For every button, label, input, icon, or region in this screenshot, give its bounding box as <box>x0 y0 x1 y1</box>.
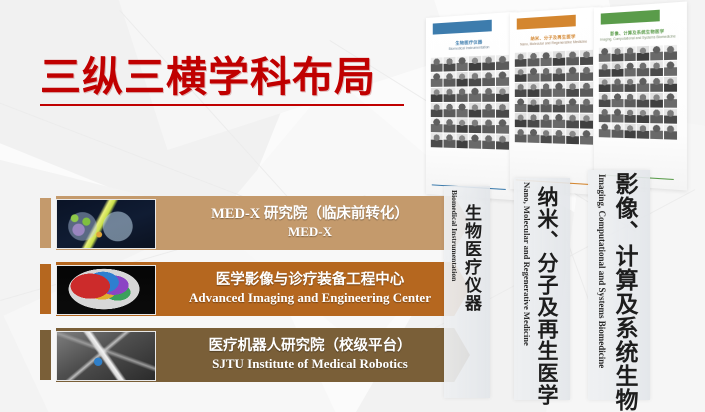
portrait-photo <box>496 55 509 70</box>
portrait-photo <box>540 67 552 82</box>
portrait-photo <box>651 61 664 76</box>
portrait-photo <box>567 129 580 144</box>
portrait-photo <box>469 134 481 149</box>
portrait-photo <box>431 88 443 102</box>
portrait-photo <box>540 113 552 128</box>
portrait-photo <box>580 66 593 81</box>
track-thumbnail-cells-image <box>56 199 156 249</box>
track-label-cn: 医学影像与诊疗装备工程中心 <box>216 271 405 291</box>
portrait-photo <box>611 93 623 107</box>
portrait-photo <box>540 51 552 66</box>
track-label-en: MED-X <box>288 224 332 241</box>
banner-title-en: Nano, Molecular and Regenerative Medicin… <box>514 40 594 48</box>
portrait-photo <box>567 113 580 128</box>
track-label-en: Advanced Imaging and Engineering Center <box>189 290 431 307</box>
portrait-photo <box>637 124 649 139</box>
portrait-photo <box>483 103 496 118</box>
portrait-photo <box>443 57 455 72</box>
track-arrow-bar: 医学影像与诊疗装备工程中心 Advanced Imaging and Engin… <box>56 262 470 316</box>
portrait-photo <box>515 83 527 97</box>
portrait-photo <box>469 72 481 87</box>
portrait-photo <box>431 73 443 87</box>
photo-banner-imaging-computational-systems: 影像、计算及系统生物医学 Imaging, Computational and … <box>594 1 687 190</box>
portrait-photo <box>664 93 677 108</box>
track-label-cn: MED-X 研究院（临床前转化） <box>211 205 409 225</box>
portrait-photo <box>515 68 527 82</box>
portrait-photo <box>456 103 468 117</box>
portrait-photo <box>540 128 552 143</box>
portrait-photo <box>515 128 527 142</box>
banner-header-bar <box>517 15 576 30</box>
track-left-cap <box>40 264 51 314</box>
track-thumbnail-brain-image <box>56 265 156 315</box>
vertical-track-biomedical-instrumentation: Biomedical Instrumentation 生物医疗仪器 <box>444 186 490 398</box>
portrait-photo <box>515 52 527 66</box>
portrait-photo <box>567 98 580 113</box>
portrait-photo <box>456 56 468 71</box>
portrait-photo <box>469 87 481 102</box>
portrait-photo <box>637 108 649 123</box>
portrait-photo <box>624 62 636 77</box>
portrait-photo <box>483 55 496 70</box>
portrait-photo <box>553 129 565 144</box>
portrait-photo <box>431 103 443 117</box>
portrait-photo <box>527 98 539 112</box>
banner-header-bar <box>433 20 492 35</box>
portrait-photo <box>599 123 611 137</box>
portrait-photo <box>483 71 496 86</box>
portrait-photo <box>624 108 636 123</box>
portrait-photo <box>431 118 443 132</box>
portrait-photo <box>553 82 565 97</box>
portrait-photo <box>580 98 593 113</box>
portrait-photo <box>567 66 580 81</box>
portrait-photo <box>637 62 649 77</box>
portrait-photo <box>469 103 481 118</box>
page-title: 三纵三横学科布局 <box>40 57 404 98</box>
portrait-grid <box>599 45 677 140</box>
portrait-photo <box>540 98 552 112</box>
portrait-photo <box>611 62 623 76</box>
track-row-imaging-center: 医学影像与诊疗装备工程中心 Advanced Imaging and Engin… <box>40 262 470 316</box>
track-label-cn: 医疗机器人研究院（校级平台） <box>209 337 412 357</box>
portrait-photo <box>443 118 455 132</box>
vertical-label-cn: 生物医疗仪器 <box>459 204 484 312</box>
portrait-photo <box>624 123 636 138</box>
portrait-photo <box>599 63 611 77</box>
portrait-photo <box>580 114 593 129</box>
portrait-photo <box>637 93 649 108</box>
portrait-photo <box>580 50 593 65</box>
vertical-label-en: Imaging, Computational and Systems Biome… <box>597 174 607 368</box>
banner-header-bar <box>601 10 660 25</box>
photo-banner-biomedical-instrumentation: 生物医疗仪器 Biomedical Instrumentation <box>426 12 517 201</box>
track-left-cap <box>40 330 51 380</box>
vertical-label-cn: 纳米、分子及再生医学 <box>532 186 562 406</box>
portrait-photo <box>515 98 527 112</box>
portrait-photo <box>651 45 664 60</box>
portrait-photo <box>496 119 509 134</box>
portrait-photo <box>496 87 509 102</box>
vertical-label-en: Nano, Molecular and Regenerative Medicin… <box>522 182 532 346</box>
portrait-photo <box>599 47 611 61</box>
title-underline <box>40 104 404 106</box>
portrait-photo <box>624 77 636 91</box>
portrait-photo <box>664 61 677 76</box>
portrait-photo <box>527 128 539 143</box>
portrait-photo <box>651 93 664 108</box>
vertical-label-cn: 影像、计算及系统生物医学 <box>607 172 641 412</box>
portrait-photo <box>496 71 509 86</box>
portrait-photo <box>443 103 455 117</box>
portrait-photo <box>611 108 623 122</box>
track-label-group: MED-X 研究院（临床前转化） MED-X <box>160 196 460 250</box>
banner-title-en: Imaging, Computational and Systems Biome… <box>598 35 678 43</box>
track-label-group: 医疗机器人研究院（校级平台） SJTU Institute of Medical… <box>160 328 460 382</box>
portrait-photo <box>469 118 481 133</box>
track-label-en: SJTU Institute of Medical Robotics <box>212 356 408 373</box>
portrait-photo <box>611 78 623 92</box>
portrait-photo <box>580 129 593 144</box>
portrait-grid <box>515 50 593 145</box>
portrait-photo <box>599 78 611 92</box>
portrait-photo <box>469 56 481 71</box>
portrait-photo <box>567 82 580 97</box>
portrait-photo <box>496 103 509 118</box>
track-row-medical-robotics: 医疗机器人研究院（校级平台） SJTU Institute of Medical… <box>40 328 470 382</box>
track-row-med-x: MED-X 研究院（临床前转化） MED-X <box>40 196 470 250</box>
portrait-photo <box>456 87 468 101</box>
portrait-photo <box>527 83 539 97</box>
photo-banner-wall: 生物医疗仪器 Biomedical Instrumentation <box>424 4 705 199</box>
vertical-label-en: Biomedical Instrumentation <box>450 190 459 281</box>
portrait-photo <box>443 88 455 102</box>
slide-title-block: 三纵三横学科布局 <box>40 57 404 106</box>
portrait-photo <box>664 124 677 139</box>
portrait-photo <box>553 51 565 66</box>
portrait-photo <box>580 82 593 97</box>
portrait-photo <box>651 124 664 139</box>
portrait-photo <box>483 87 496 102</box>
portrait-photo <box>515 113 527 127</box>
portrait-photo <box>664 77 677 92</box>
photo-banner-nano-molecular-regenerative: 纳米、分子及再生医学 Nano, Molecular and Regenerat… <box>510 7 601 196</box>
portrait-photo <box>431 133 443 147</box>
track-left-cap <box>40 198 51 248</box>
portrait-photo <box>611 47 623 62</box>
portrait-photo <box>664 109 677 124</box>
portrait-photo <box>527 113 539 127</box>
track-arrow-bar: MED-X 研究院（临床前转化） MED-X <box>56 196 470 250</box>
portrait-grid <box>431 55 509 150</box>
vertical-track-nano-molecular-regenerative: Nano, Molecular and Regenerative Medicin… <box>514 178 570 400</box>
portrait-photo <box>456 118 468 133</box>
portrait-photo <box>611 123 623 138</box>
track-label-group: 医学影像与诊疗装备工程中心 Advanced Imaging and Engin… <box>160 262 460 316</box>
portrait-photo <box>599 108 611 122</box>
portrait-photo <box>540 82 552 96</box>
portrait-photo <box>456 72 468 87</box>
portrait-photo <box>527 52 539 67</box>
portrait-photo <box>651 77 664 92</box>
portrait-photo <box>651 108 664 123</box>
portrait-photo <box>553 67 565 82</box>
portrait-photo <box>443 72 455 86</box>
portrait-photo <box>637 77 649 92</box>
portrait-photo <box>443 133 455 148</box>
vertical-track-imaging-computational-systems: Imaging, Computational and Systems Biome… <box>588 170 650 400</box>
portrait-photo <box>553 98 565 113</box>
portrait-photo <box>496 134 509 149</box>
horizontal-tracks: MED-X 研究院（临床前转化） MED-X 医学影像与诊疗装备工程中心 Adv… <box>40 196 470 396</box>
portrait-photo <box>553 113 565 128</box>
slide-canvas: 生物医疗仪器 Biomedical Instrumentation <box>0 0 705 412</box>
portrait-photo <box>483 134 496 149</box>
track-arrow-bar: 医疗机器人研究院（校级平台） SJTU Institute of Medical… <box>56 328 470 382</box>
portrait-photo <box>483 118 496 133</box>
track-thumbnail-robot-image <box>56 331 156 381</box>
portrait-photo <box>624 46 636 61</box>
portrait-photo <box>637 46 649 61</box>
portrait-photo <box>527 67 539 81</box>
portrait-photo <box>567 50 580 65</box>
portrait-photo <box>431 57 443 71</box>
portrait-photo <box>624 93 636 107</box>
portrait-photo <box>456 133 468 148</box>
portrait-photo <box>664 45 677 60</box>
portrait-photo <box>599 93 611 107</box>
